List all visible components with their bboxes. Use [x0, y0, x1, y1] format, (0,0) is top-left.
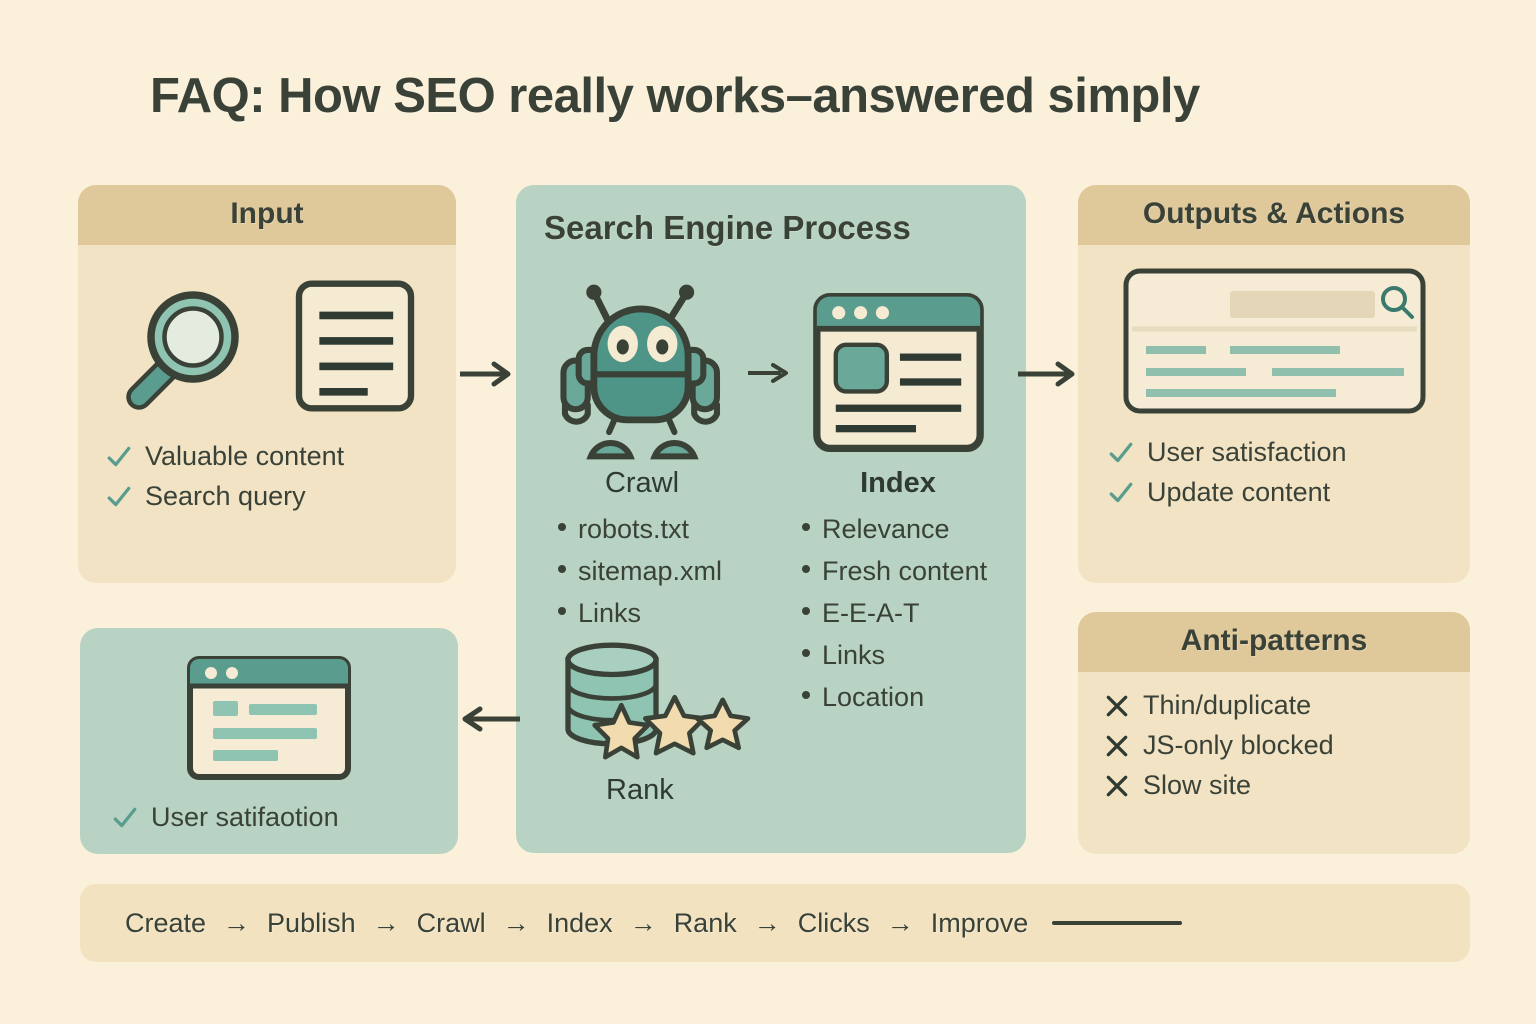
search-engine-process-panel: Search Engine Process	[516, 185, 1026, 853]
index-bullet-list: Relevance Fresh content E-E-A-T Links Lo…	[802, 514, 1008, 713]
list-item-label: robots.txt	[578, 514, 689, 545]
flow-step-create: Create	[125, 908, 206, 939]
outputs-panel-header: Outputs & Actions	[1078, 185, 1470, 245]
cross-icon	[1104, 733, 1130, 759]
flow-arrow-icon: →	[754, 908, 781, 939]
list-item: robots.txt	[558, 514, 742, 545]
arrow-input-to-process-icon	[460, 360, 516, 388]
list-item-label: Links	[578, 598, 641, 629]
flow-step-crawl: Crawl	[417, 908, 486, 939]
bullet-dot-icon	[802, 565, 810, 573]
input-panel-header: Input	[78, 185, 456, 245]
list-item-label: Update content	[1147, 479, 1330, 506]
serp-preview: SERP	[1078, 267, 1470, 415]
flow-step-rank: Rank	[674, 908, 737, 939]
list-item-label: User satifaotion	[151, 804, 339, 831]
database-stars-icon	[552, 635, 752, 770]
crawl-column: Crawl robots.txt sitemap.xml Links	[542, 277, 742, 640]
flow-arrow-icon: →	[630, 908, 657, 939]
browser-window-icon	[811, 290, 986, 455]
list-item: Update content	[1108, 479, 1470, 506]
bullet-dot-icon	[558, 607, 566, 615]
crawl-title: Crawl	[542, 467, 742, 500]
list-item: Thin/duplicate	[1104, 692, 1470, 719]
anti-patterns-list: Thin/duplicate JS-only blocked Slow site	[1104, 692, 1470, 799]
check-icon	[112, 805, 138, 831]
flow-arrow-icon: →	[887, 908, 914, 939]
bullet-dot-icon	[802, 607, 810, 615]
flow-step-improve: Improve	[931, 908, 1029, 939]
list-item: Valuable content	[106, 443, 456, 470]
process-panel-header: Search Engine Process	[516, 185, 1026, 247]
list-item-label: Valuable content	[145, 443, 344, 470]
list-item-label: E-E-A-T	[822, 598, 920, 629]
list-item: Links	[802, 640, 1008, 671]
flow-bar: Create → Publish → Crawl → Index → Rank …	[80, 884, 1470, 962]
arrow-crawl-to-index-icon	[748, 363, 792, 383]
bullet-dot-icon	[558, 565, 566, 573]
satisfaction-checklist: User satifaotion	[112, 804, 458, 831]
flow-step-clicks: Clicks	[798, 908, 870, 939]
list-item-label: Search query	[145, 483, 306, 510]
input-icon-group	[78, 271, 456, 421]
bullet-dot-icon	[802, 691, 810, 699]
serp-card-icon	[1122, 267, 1427, 415]
flow-step-publish: Publish	[267, 908, 356, 939]
flow-step-index: Index	[547, 908, 613, 939]
list-item-label: sitemap.xml	[578, 556, 722, 587]
list-item: User satifaotion	[112, 804, 458, 831]
list-item: Relevance	[802, 514, 1008, 545]
check-icon	[1108, 440, 1134, 466]
browser-window-icon	[185, 654, 353, 782]
list-item: E-E-A-T	[802, 598, 1008, 629]
list-item: Location	[802, 682, 1008, 713]
document-icon	[291, 276, 419, 416]
list-item-label: Location	[822, 682, 924, 713]
list-item: Slow site	[1104, 772, 1470, 799]
flow-arrow-icon: →	[223, 908, 250, 939]
list-item-label: Relevance	[822, 514, 950, 545]
list-item: Fresh content	[802, 556, 1008, 587]
cross-icon	[1104, 693, 1130, 719]
bullet-dot-icon	[802, 523, 810, 531]
outputs-checklist: User satisfaction Update content	[1108, 439, 1470, 506]
list-item: User satisfaction	[1108, 439, 1470, 466]
flow-tail-line	[1052, 921, 1182, 925]
input-checklist: Valuable content Search query	[106, 443, 456, 510]
index-title: Index	[788, 467, 1008, 500]
input-panel: Input Valuable content	[78, 185, 456, 583]
list-item: JS-only blocked	[1104, 732, 1470, 759]
outputs-and-actions-panel: Outputs & Actions SERP User s	[1078, 185, 1470, 583]
flow-arrow-icon: →	[503, 908, 530, 939]
list-item-label: Links	[822, 640, 885, 671]
robot-icon	[550, 277, 735, 467]
list-item-label: Thin/duplicate	[1143, 692, 1311, 719]
rank-title: Rank	[546, 774, 766, 807]
list-item: sitemap.xml	[558, 556, 742, 587]
cross-icon	[1104, 773, 1130, 799]
bullet-dot-icon	[558, 523, 566, 531]
page-title: FAQ: How SEO really works–answered simpl…	[150, 68, 1200, 124]
arrow-process-to-outputs-icon	[1018, 360, 1080, 388]
list-item-label: Fresh content	[822, 556, 987, 587]
anti-patterns-panel: Anti-patterns Thin/duplicate JS-only blo…	[1078, 612, 1470, 854]
check-icon	[1108, 480, 1134, 506]
list-item-label: JS-only blocked	[1143, 732, 1334, 759]
list-item-label: Slow site	[1143, 772, 1251, 799]
flow-arrow-icon: →	[373, 908, 400, 939]
list-item: Search query	[106, 483, 456, 510]
check-icon	[106, 444, 132, 470]
bullet-dot-icon	[802, 649, 810, 657]
arrow-rank-to-satisfaction-icon	[456, 705, 520, 733]
index-column: Index Relevance Fresh content E-E-A-T Li…	[788, 277, 1008, 724]
check-icon	[106, 484, 132, 510]
satisfaction-icon-group	[80, 654, 458, 782]
magnifier-icon	[115, 271, 265, 421]
crawl-bullet-list: robots.txt sitemap.xml Links	[558, 514, 742, 629]
rank-column: Rank	[546, 635, 766, 821]
list-item: Links	[558, 598, 742, 629]
anti-patterns-header: Anti-patterns	[1078, 612, 1470, 672]
user-satisfaction-panel: User satifaotion	[80, 628, 458, 854]
list-item-label: User satisfaction	[1147, 439, 1347, 466]
